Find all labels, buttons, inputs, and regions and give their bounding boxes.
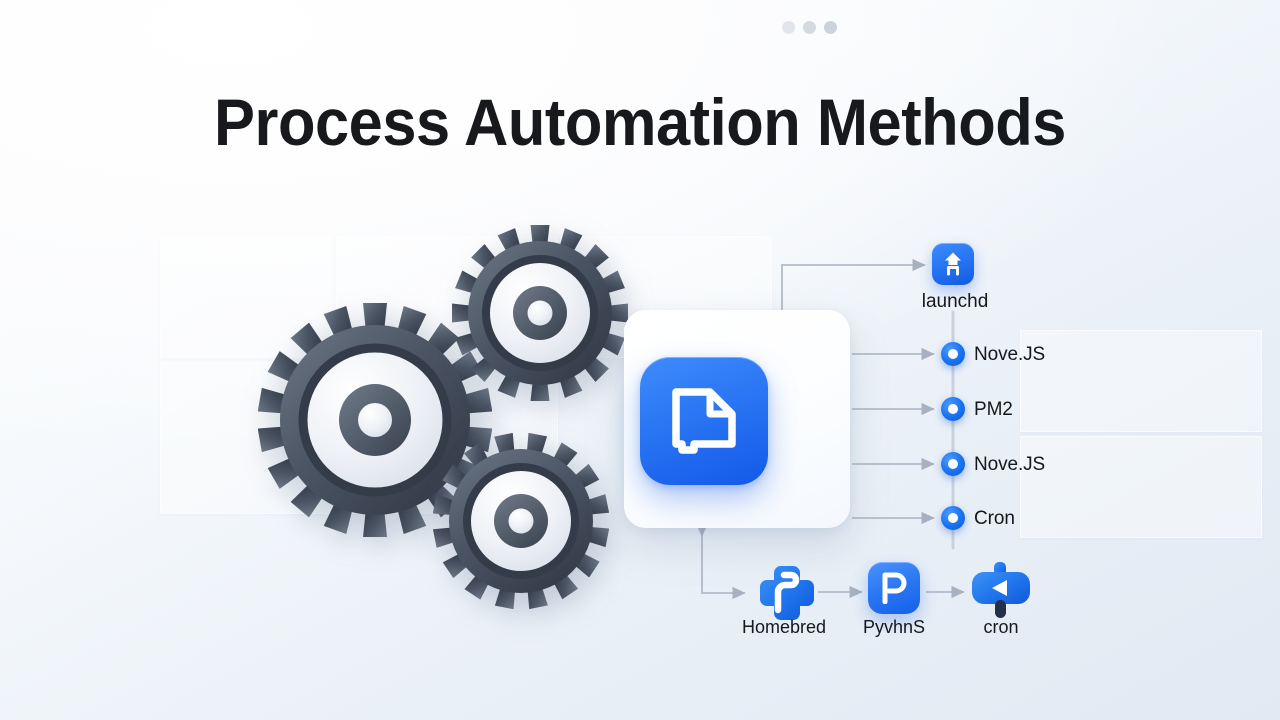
bg-panel-6	[1020, 330, 1262, 432]
homebrew-label: Homebred	[736, 617, 832, 638]
window-dot-3-icon	[824, 21, 837, 34]
gear-lower-right-icon	[433, 433, 609, 609]
pipeline-node-label: Cron	[974, 508, 1015, 530]
cron-icon[interactable]	[968, 560, 1034, 624]
bullet-ring-icon	[941, 452, 965, 476]
homebrew-icon[interactable]	[753, 562, 815, 624]
pipeline-node-label: Nove.JS	[974, 344, 1045, 366]
launchd-label: launchd	[916, 291, 994, 313]
illustration-canvas: Process Automation Methods	[0, 0, 1280, 720]
gear-upper-right-icon	[452, 225, 628, 401]
window-dot-2-icon	[803, 21, 816, 34]
pipeline-node-label: PM2	[974, 399, 1013, 421]
python-icon[interactable]	[868, 562, 920, 614]
launchd-icon[interactable]	[932, 243, 974, 285]
bullet-ring-icon	[941, 506, 965, 530]
bullet-ring-icon	[941, 342, 965, 366]
pipeline-node-label: Nove.JS	[974, 454, 1045, 476]
python-label: PyvhnS	[846, 617, 942, 638]
bg-panel-7	[1020, 436, 1262, 538]
window-dot-1-icon	[782, 21, 795, 34]
document-icon[interactable]	[640, 357, 768, 485]
bullet-ring-icon	[941, 397, 965, 421]
cron-label: cron	[953, 617, 1049, 638]
page-title: Process Automation Methods	[45, 84, 1235, 160]
